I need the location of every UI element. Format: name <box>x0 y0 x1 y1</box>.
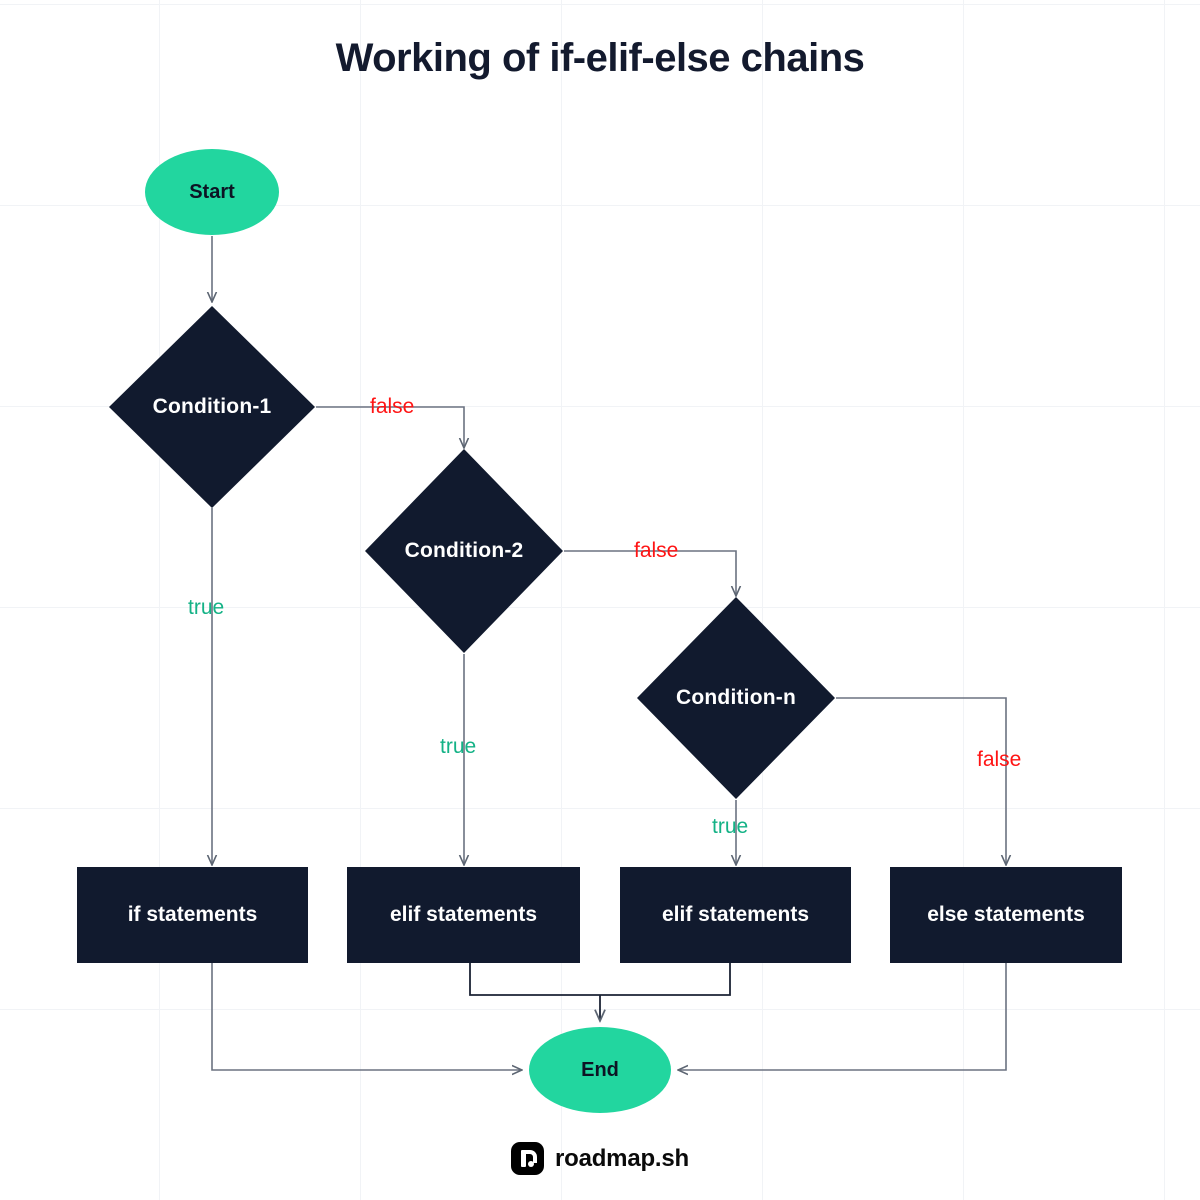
node-end[interactable]: End <box>529 1027 671 1113</box>
node-start[interactable]: Start <box>145 149 279 235</box>
node-condition-2[interactable]: Condition-2 <box>365 449 563 653</box>
edge-label-false-3: false <box>977 748 1021 772</box>
node-if-statements-label: if statements <box>128 903 258 927</box>
roadmap-logo-icon <box>511 1142 544 1175</box>
node-end-label: End <box>581 1059 619 1082</box>
edge-label-true-1: true <box>188 596 224 620</box>
node-condition-n[interactable]: Condition-n <box>637 597 835 799</box>
edge-label-false-2: false <box>634 539 678 563</box>
node-condition-n-label: Condition-n <box>637 597 835 799</box>
node-if-statements[interactable]: if statements <box>77 867 308 963</box>
node-condition-2-label: Condition-2 <box>365 449 563 653</box>
node-elif-statements-2[interactable]: elif statements <box>620 867 851 963</box>
edge-label-true-3: true <box>712 815 748 839</box>
edge-label-true-2: true <box>440 735 476 759</box>
edge-label-false-1: false <box>370 395 414 419</box>
logo-r-dot <box>528 1161 534 1167</box>
flowchart-canvas: Working of if-elif-else chains <box>0 0 1200 1200</box>
edge-ifstmt-to-end <box>212 963 522 1070</box>
edge-condn-false-to-elsestmt <box>836 698 1006 865</box>
node-elif-statements-2-label: elif statements <box>662 903 809 927</box>
brand-name: roadmap.sh <box>555 1145 689 1173</box>
footer-brand: roadmap.sh <box>0 1142 1200 1175</box>
node-condition-1-label: Condition-1 <box>109 306 315 508</box>
edge-elsestmt-to-end <box>678 963 1006 1070</box>
node-else-statements[interactable]: else statements <box>890 867 1122 963</box>
edge-merge-bus <box>470 963 730 995</box>
node-elif-statements-1-label: elif statements <box>390 903 537 927</box>
node-else-statements-label: else statements <box>927 903 1085 927</box>
node-start-label: Start <box>189 181 235 204</box>
node-condition-1[interactable]: Condition-1 <box>109 306 315 508</box>
node-elif-statements-1[interactable]: elif statements <box>347 867 580 963</box>
page-title: Working of if-elif-else chains <box>0 36 1200 81</box>
